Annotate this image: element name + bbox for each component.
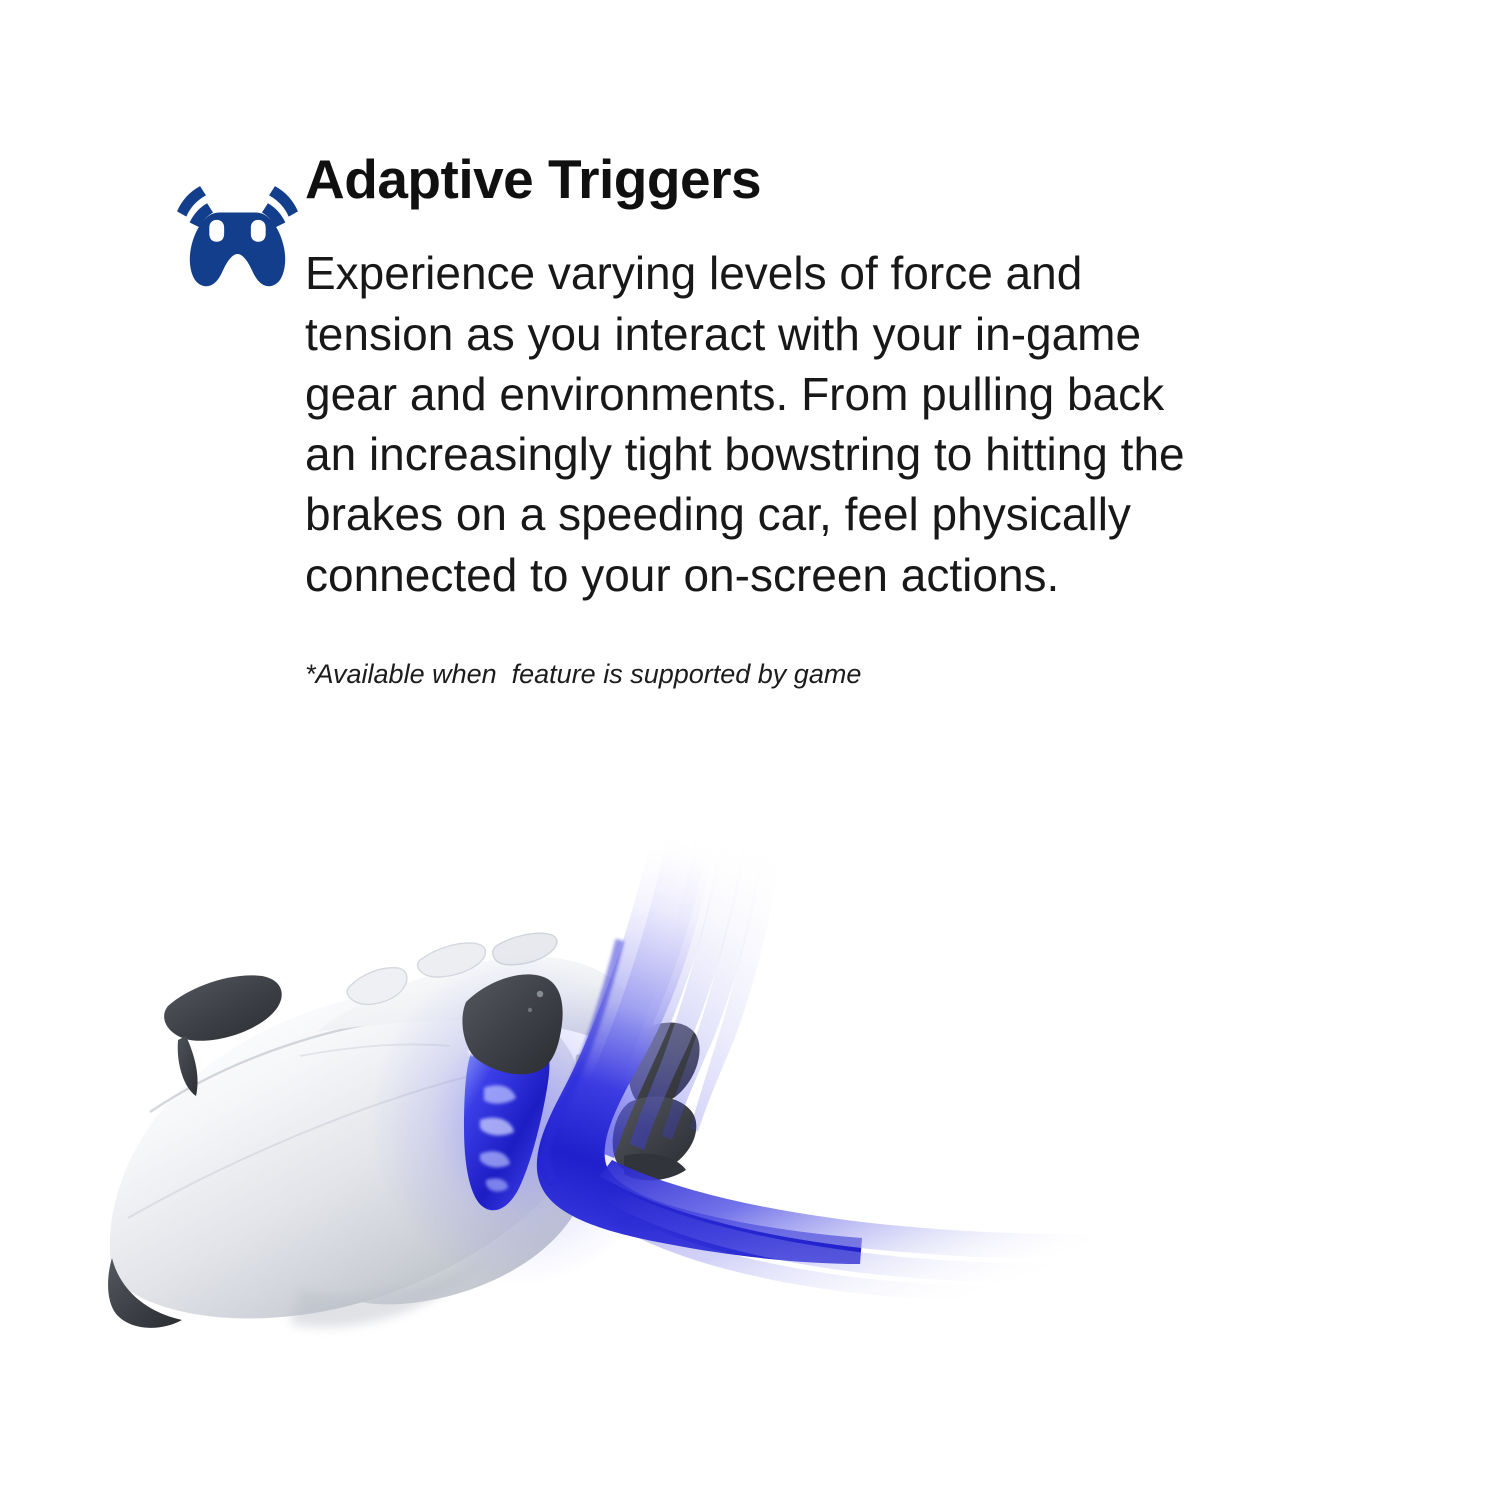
product-photo: [0, 820, 1500, 1440]
feature-header: Adaptive Triggers Experience varying lev…: [0, 150, 1500, 692]
trigger-highlight-dot: [537, 991, 543, 997]
feature-icon-cell: [0, 150, 305, 310]
feature-text-cell: Adaptive Triggers Experience varying lev…: [305, 150, 1500, 692]
gamepad-vibration-icon: [170, 158, 305, 310]
energy-streaks-outgoing: [600, 1160, 1215, 1301]
feature-description: Experience varying levels of force and t…: [305, 243, 1195, 605]
page-title: Adaptive Triggers: [305, 150, 1340, 209]
trigger-highlight-dot: [528, 1008, 532, 1012]
controller-analog-stick: [164, 975, 282, 1040]
controller-illustration: [0, 820, 1500, 1440]
feature-footnote: *Available when feature is supported by …: [305, 657, 1340, 692]
feature-card: Adaptive Triggers Experience varying lev…: [0, 0, 1500, 1500]
